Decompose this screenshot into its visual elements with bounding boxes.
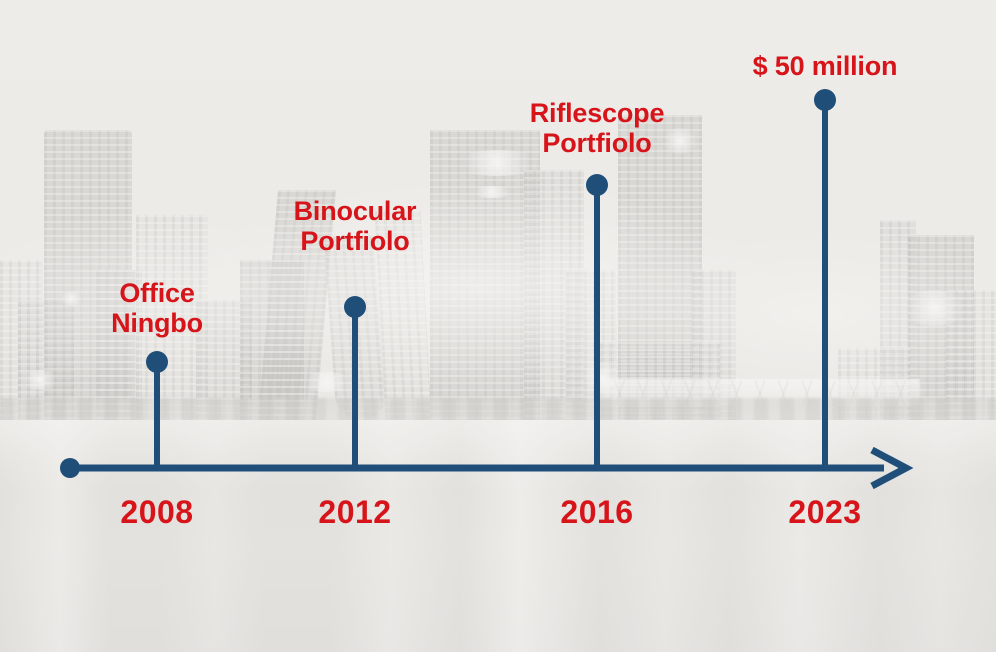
timeline-figure: Office Ningbo2008Binocular Portfiolo2012… — [0, 0, 996, 652]
year-label-2008: 2008 — [120, 496, 193, 528]
milestone-dot-2016[interactable] — [586, 174, 608, 196]
milestone-label-2016: Riflescope Portfiolo — [530, 98, 665, 158]
milestone-dot-2012[interactable] — [344, 296, 366, 318]
year-label-2023: 2023 — [788, 496, 861, 528]
year-label-2012: 2012 — [318, 496, 391, 528]
milestone-label-2023: $ 50 million — [753, 51, 898, 81]
milestone-dot-2008[interactable] — [146, 351, 168, 373]
milestone-dot-2023[interactable] — [814, 89, 836, 111]
year-label-2016: 2016 — [560, 496, 633, 528]
milestone-label-2008: Office Ningbo — [111, 278, 203, 338]
milestone-label-2012: Binocular Portfiolo — [294, 196, 417, 256]
timeline-start-dot — [60, 458, 80, 478]
